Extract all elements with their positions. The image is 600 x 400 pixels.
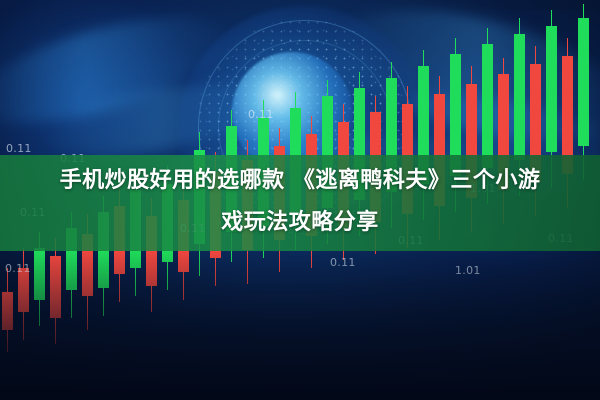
headline-text: 手机炒股好用的选哪款 《逃离鸭科夫》三个小游 戏玩法攻略分享 <box>0 160 600 244</box>
candle-body <box>546 26 557 152</box>
headline-line-1: 手机炒股好用的选哪款 《逃离鸭科夫》三个小游 <box>22 160 578 202</box>
headline-line-2: 戏玩法攻略分享 <box>22 202 578 244</box>
price-label: 0.11 <box>248 108 274 121</box>
candle-body <box>578 18 589 146</box>
candle-body <box>514 34 525 160</box>
price-label: 0.11 <box>6 142 32 155</box>
banner-image: 0.110.110.111.010.110.110.110.111.010.11… <box>0 0 600 400</box>
bottom-vignette <box>0 250 600 400</box>
candle-body <box>482 44 493 168</box>
